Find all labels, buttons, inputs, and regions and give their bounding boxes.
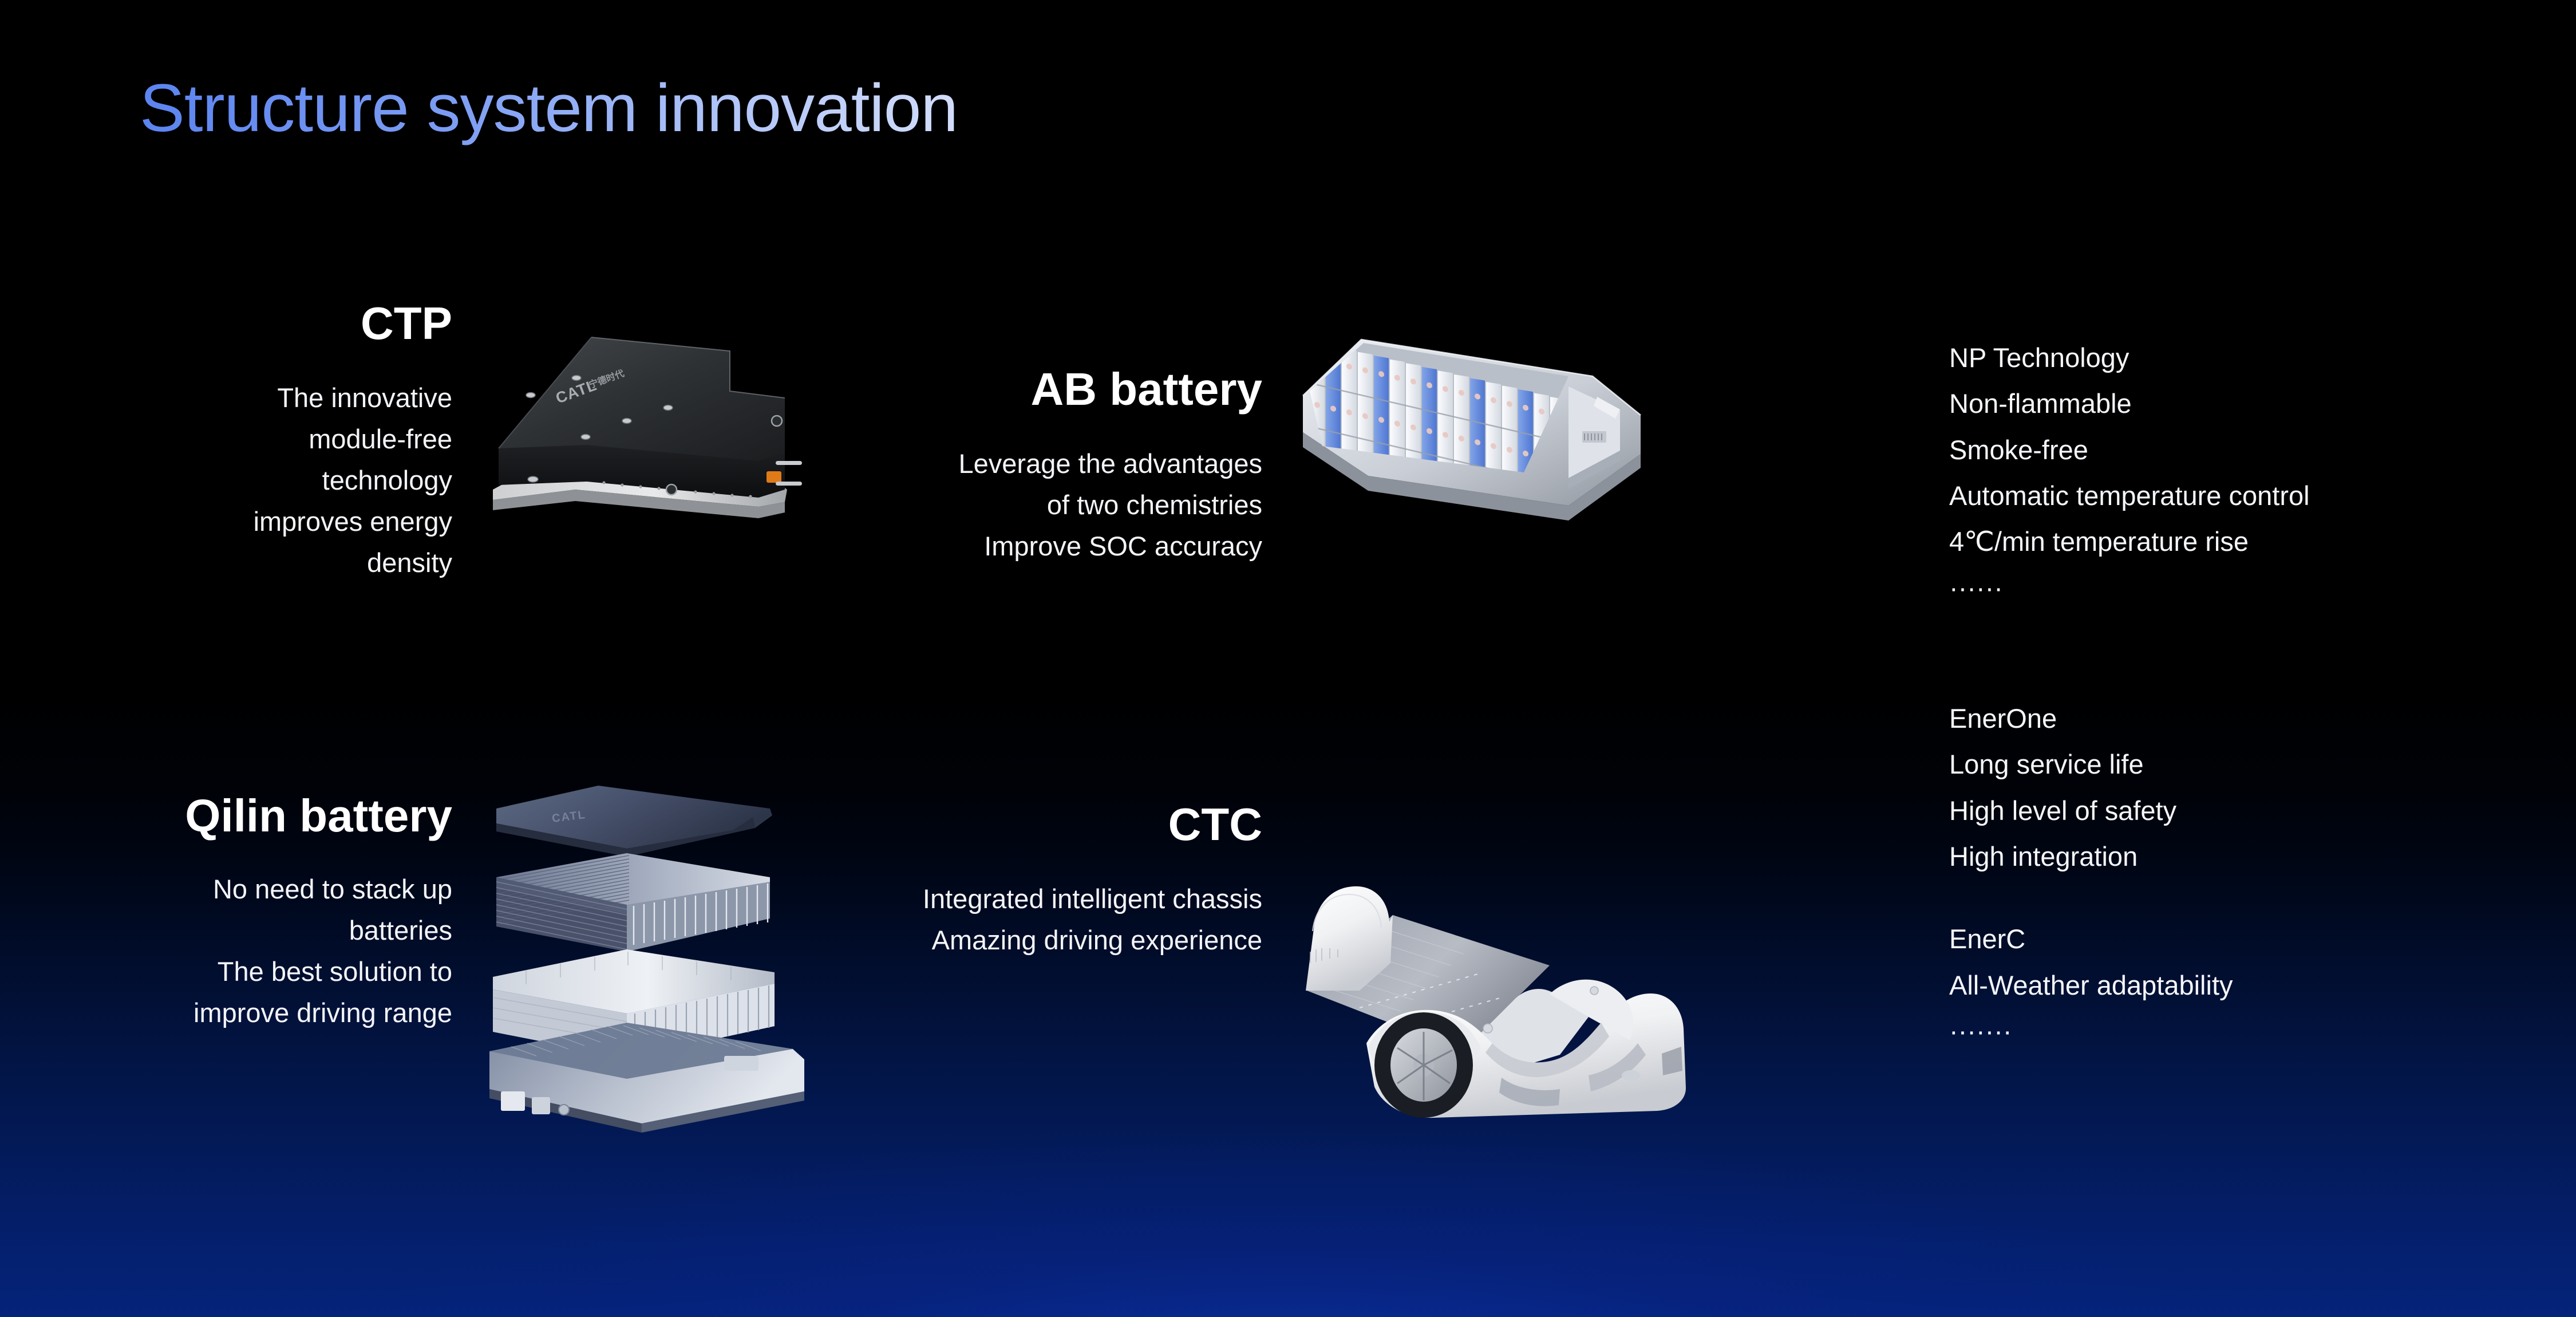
feature-enerone-item-2: High level of safety <box>1949 788 2233 834</box>
section-ctc-line-2: Amazing driving experience <box>767 920 1262 961</box>
feature-enerc-item-1: All-Weather adaptability <box>1949 963 2233 1008</box>
section-qilin-line-3: The best solution to <box>80 951 452 992</box>
section-qilin-line-4: improve driving range <box>80 992 452 1034</box>
section-ctp-line-2: module-free <box>69 419 452 460</box>
section-qilin-battery: Qilin battery No need to stack up batter… <box>80 793 452 1034</box>
feature-np-item-5: 4℃/min temperature rise <box>1949 519 2310 565</box>
section-qilin-line-2: batteries <box>80 910 452 951</box>
section-ab-line-3: Improve SOC accuracy <box>744 526 1262 567</box>
section-ctc-heading: CTC <box>767 802 1262 847</box>
feature-enerc-title: EnerC <box>1949 916 2233 962</box>
section-ctc-line-1: Integrated intelligent chassis <box>767 878 1262 920</box>
feature-np-item-4: Automatic temperature control <box>1949 473 2310 519</box>
background-gradient <box>0 0 2576 1317</box>
ctc-chassis-vehicle-image <box>1291 819 1692 1122</box>
section-ctp-heading: CTP <box>69 301 452 346</box>
section-ctp: CTP The innovative module-free technolog… <box>69 301 452 583</box>
feature-np-item-1: NP Technology <box>1949 335 2310 381</box>
page-title: Structure system innovation <box>140 72 958 146</box>
section-ctp-description: The innovative module-free technology im… <box>69 377 452 583</box>
feature-enerone-item-3: High integration <box>1949 834 2233 880</box>
section-ab-heading: AB battery <box>744 366 1262 412</box>
section-ctc: CTC Integrated intelligent chassis Amazi… <box>767 802 1262 961</box>
feature-np-item-2: Non-flammable <box>1949 381 2310 427</box>
feature-list-np-technology: NP Technology Non-flammable Smoke-free A… <box>1949 335 2310 611</box>
feature-np-item-3: Smoke-free <box>1949 427 2310 473</box>
section-ab-battery: AB battery Leverage the advantages of tw… <box>744 366 1262 567</box>
section-qilin-heading: Qilin battery <box>80 793 452 839</box>
feature-enerone-title: EnerOne <box>1949 696 2233 742</box>
section-ab-line-1: Leverage the advantages <box>744 443 1262 484</box>
section-qilin-line-1: No need to stack up <box>80 869 452 910</box>
slide-canvas: Structure system innovation CTP The inno… <box>0 0 2576 1317</box>
section-qilin-description: No need to stack up batteries The best s… <box>80 869 452 1034</box>
section-ctp-line-5: density <box>69 542 452 583</box>
feature-list-energy-products: EnerOne Long service life High level of … <box>1949 696 2233 1055</box>
feature-np-ellipsis: ······ <box>1949 565 2310 611</box>
section-ctp-line-4: improves energy <box>69 501 452 542</box>
ab-battery-pack-image <box>1299 324 1654 547</box>
section-ctp-line-1: The innovative <box>69 377 452 419</box>
feature-list-spacer <box>1949 880 2233 916</box>
section-ctc-description: Integrated intelligent chassis Amazing d… <box>767 878 1262 961</box>
feature-enerc-ellipsis: ······· <box>1949 1008 2233 1054</box>
section-ab-description: Leverage the advantages of two chemistri… <box>744 443 1262 567</box>
section-ab-line-2: of two chemistries <box>744 484 1262 526</box>
section-ctp-line-3: technology <box>69 460 452 501</box>
feature-enerone-item-1: Long service life <box>1949 742 2233 787</box>
